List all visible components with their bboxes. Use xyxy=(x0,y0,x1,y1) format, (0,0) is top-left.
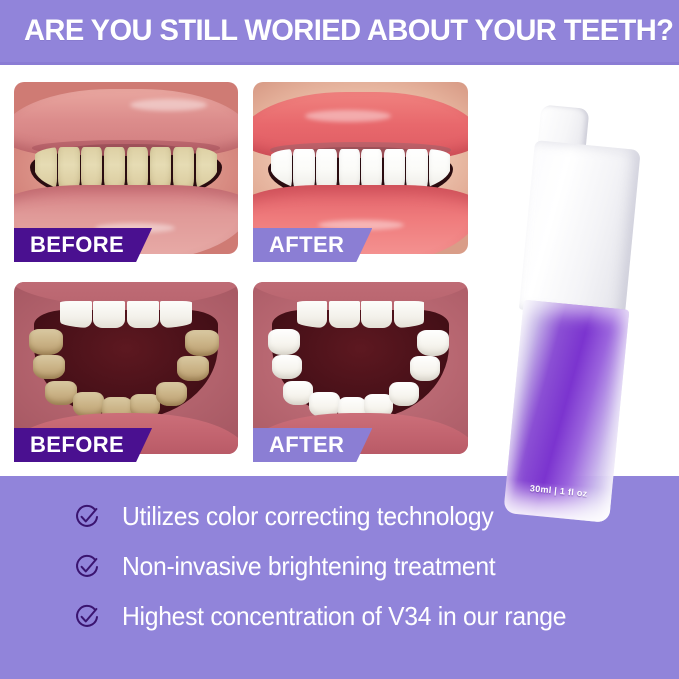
product-bottle: 30ml | 1 fl oz xyxy=(499,104,650,523)
page-title: ARE YOU STILL WORIED ABOUT YOUR TEETH? xyxy=(24,14,673,48)
check-circle-icon xyxy=(74,554,100,580)
check-circle-icon xyxy=(74,504,100,530)
badge-after-row1: AFTER xyxy=(253,228,372,262)
feature-item: Highest concentration of V34 in our rang… xyxy=(0,594,679,639)
product-advertisement: ARE YOU STILL WORIED ABOUT YOUR TEETH? B… xyxy=(0,0,679,679)
check-circle-icon xyxy=(74,604,100,630)
badge-before-row1: BEFORE xyxy=(14,228,152,262)
bottle-cap xyxy=(519,140,641,319)
badge-after-row2: AFTER xyxy=(253,428,372,462)
feature-text: Utilizes color correcting technology xyxy=(122,501,493,532)
bottle-volume-label: 30ml | 1 fl oz xyxy=(505,481,611,501)
header-banner: ARE YOU STILL WORIED ABOUT YOUR TEETH? xyxy=(0,0,679,65)
feature-text: Non-invasive brightening treatment xyxy=(122,551,495,582)
bottle-body: 30ml | 1 fl oz xyxy=(503,300,629,523)
badge-before-row2: BEFORE xyxy=(14,428,152,462)
feature-text: Highest concentration of V34 in our rang… xyxy=(122,601,566,632)
feature-item: Non-invasive brightening treatment xyxy=(0,544,679,589)
